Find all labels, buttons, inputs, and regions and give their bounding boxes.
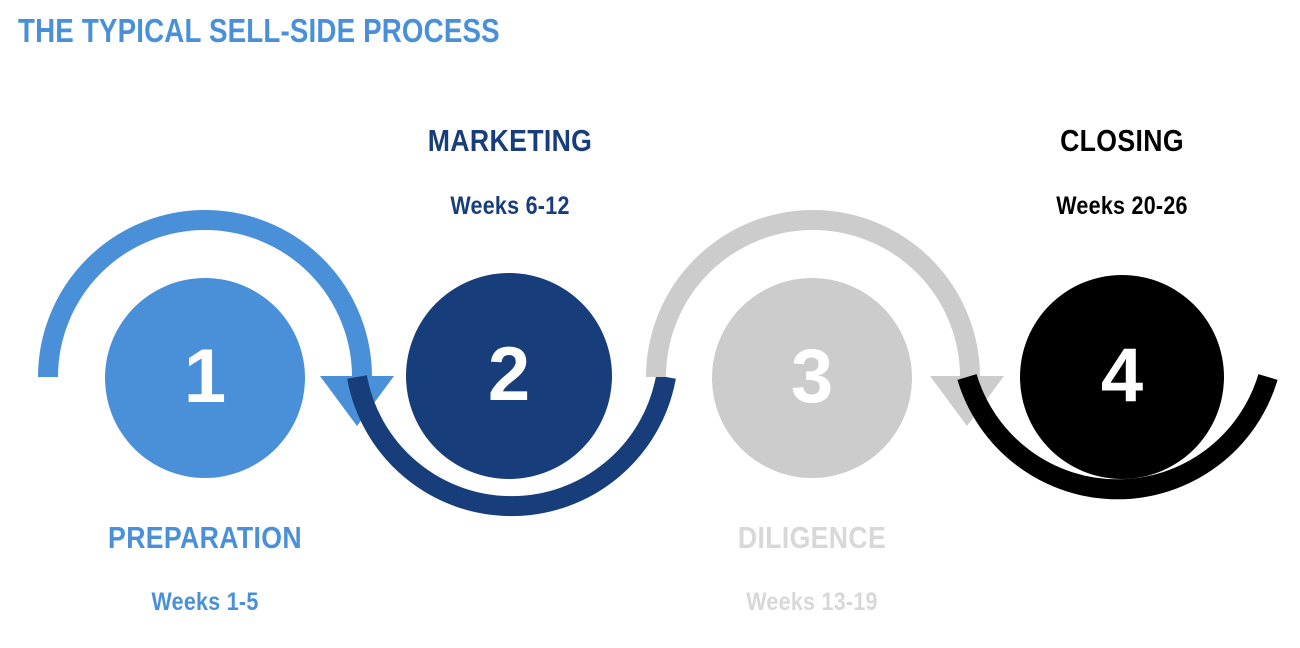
stage-1-weeks: Weeks 1-5 [76,588,334,617]
stage-3-number: 3 [791,334,833,419]
stage-2-title: MARKETING [381,123,639,159]
stage-2-weeks: Weeks 6-12 [381,192,639,221]
stage-2-number: 2 [488,332,530,417]
stage-3-weeks: Weeks 13-19 [683,588,941,617]
stage-3-title: DILIGENCE [683,520,941,556]
stage-4-title: CLOSING [993,123,1251,159]
stage-4-weeks: Weeks 20-26 [993,192,1251,221]
stage-1-number: 1 [184,334,226,419]
stage-4-number: 4 [1101,333,1143,418]
stage-1-title: PREPARATION [76,520,334,556]
